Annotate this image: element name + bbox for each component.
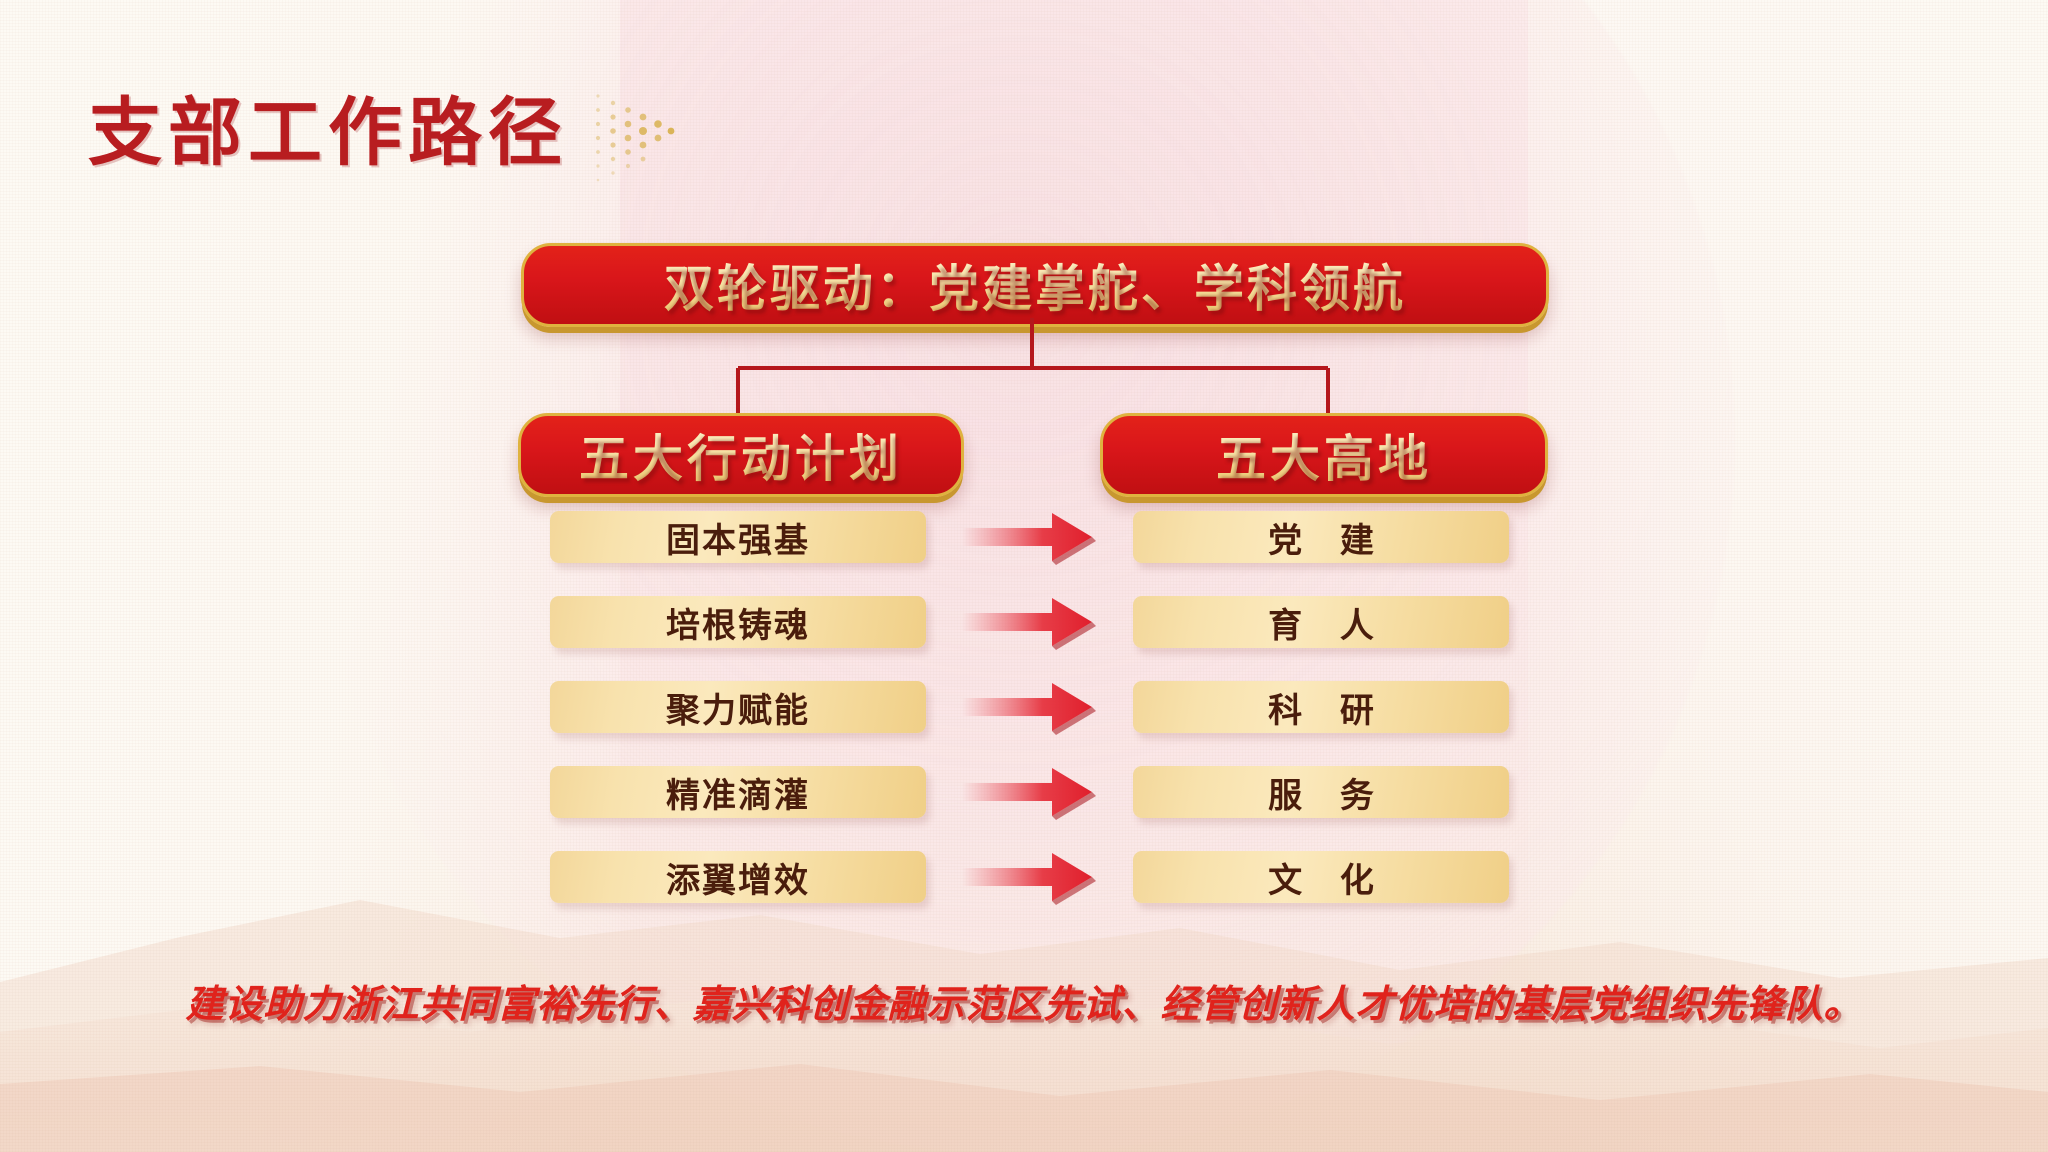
page-title-group: 支部工作路径 <box>88 78 676 188</box>
left-item-label: 添翼增效 <box>666 853 810 902</box>
right-item-label: 科 研 <box>1255 683 1387 732</box>
halftone-chevron-right-icon <box>590 84 676 188</box>
left-item-label: 固本强基 <box>666 513 810 562</box>
connector-bracket <box>520 318 1545 418</box>
list-item[interactable]: 培根铸魂 <box>550 596 926 648</box>
list-item[interactable]: 服 务 <box>1133 766 1509 818</box>
footer-slogan: 建设助力浙江共同富裕先行、嘉兴科创金融示范区先试、经管创新人才优培的基层党组织先… <box>0 973 2048 1028</box>
slide-canvas: 支部工作路径 <box>0 0 2048 1152</box>
left-item-label: 聚力赋能 <box>666 683 810 732</box>
page-title: 支部工作路径 <box>88 96 568 170</box>
left-item-list: 固本强基 培根铸魂 聚力赋能 精准滴灌 添翼增效 <box>550 511 926 936</box>
branch-right-label: 五大高地 <box>1216 419 1432 491</box>
branch-left-label: 五大行动计划 <box>579 419 903 491</box>
right-item-list: 党 建 育 人 科 研 服 务 文 化 <box>1133 511 1509 936</box>
left-item-label: 精准滴灌 <box>666 768 810 817</box>
list-item[interactable]: 添翼增效 <box>550 851 926 903</box>
right-item-label: 服 务 <box>1255 768 1387 817</box>
right-item-label: 文 化 <box>1255 853 1387 902</box>
right-item-label: 党 建 <box>1255 513 1387 562</box>
branch-node-five-action-plans[interactable]: 五大行动计划 <box>518 413 964 497</box>
list-item[interactable]: 育 人 <box>1133 596 1509 648</box>
right-item-label: 育 人 <box>1255 598 1387 647</box>
list-item[interactable]: 科 研 <box>1133 681 1509 733</box>
root-node-dual-drive[interactable]: 双轮驱动：党建掌舵、学科领航 <box>521 243 1549 327</box>
branch-node-five-highlands[interactable]: 五大高地 <box>1100 413 1548 497</box>
list-item[interactable]: 聚力赋能 <box>550 681 926 733</box>
left-item-label: 培根铸魂 <box>666 598 810 647</box>
list-item[interactable]: 党 建 <box>1133 511 1509 563</box>
root-node-label: 双轮驱动：党建掌舵、学科领航 <box>664 249 1406 321</box>
footer-slogan-text: 建设助力浙江共同富裕先行、嘉兴科创金融示范区先试、经管创新人才优培的基层党组织先… <box>185 982 1862 1026</box>
list-item[interactable]: 固本强基 <box>550 511 926 563</box>
arrow-group <box>960 511 1120 961</box>
list-item[interactable]: 精准滴灌 <box>550 766 926 818</box>
list-item[interactable]: 文 化 <box>1133 851 1509 903</box>
